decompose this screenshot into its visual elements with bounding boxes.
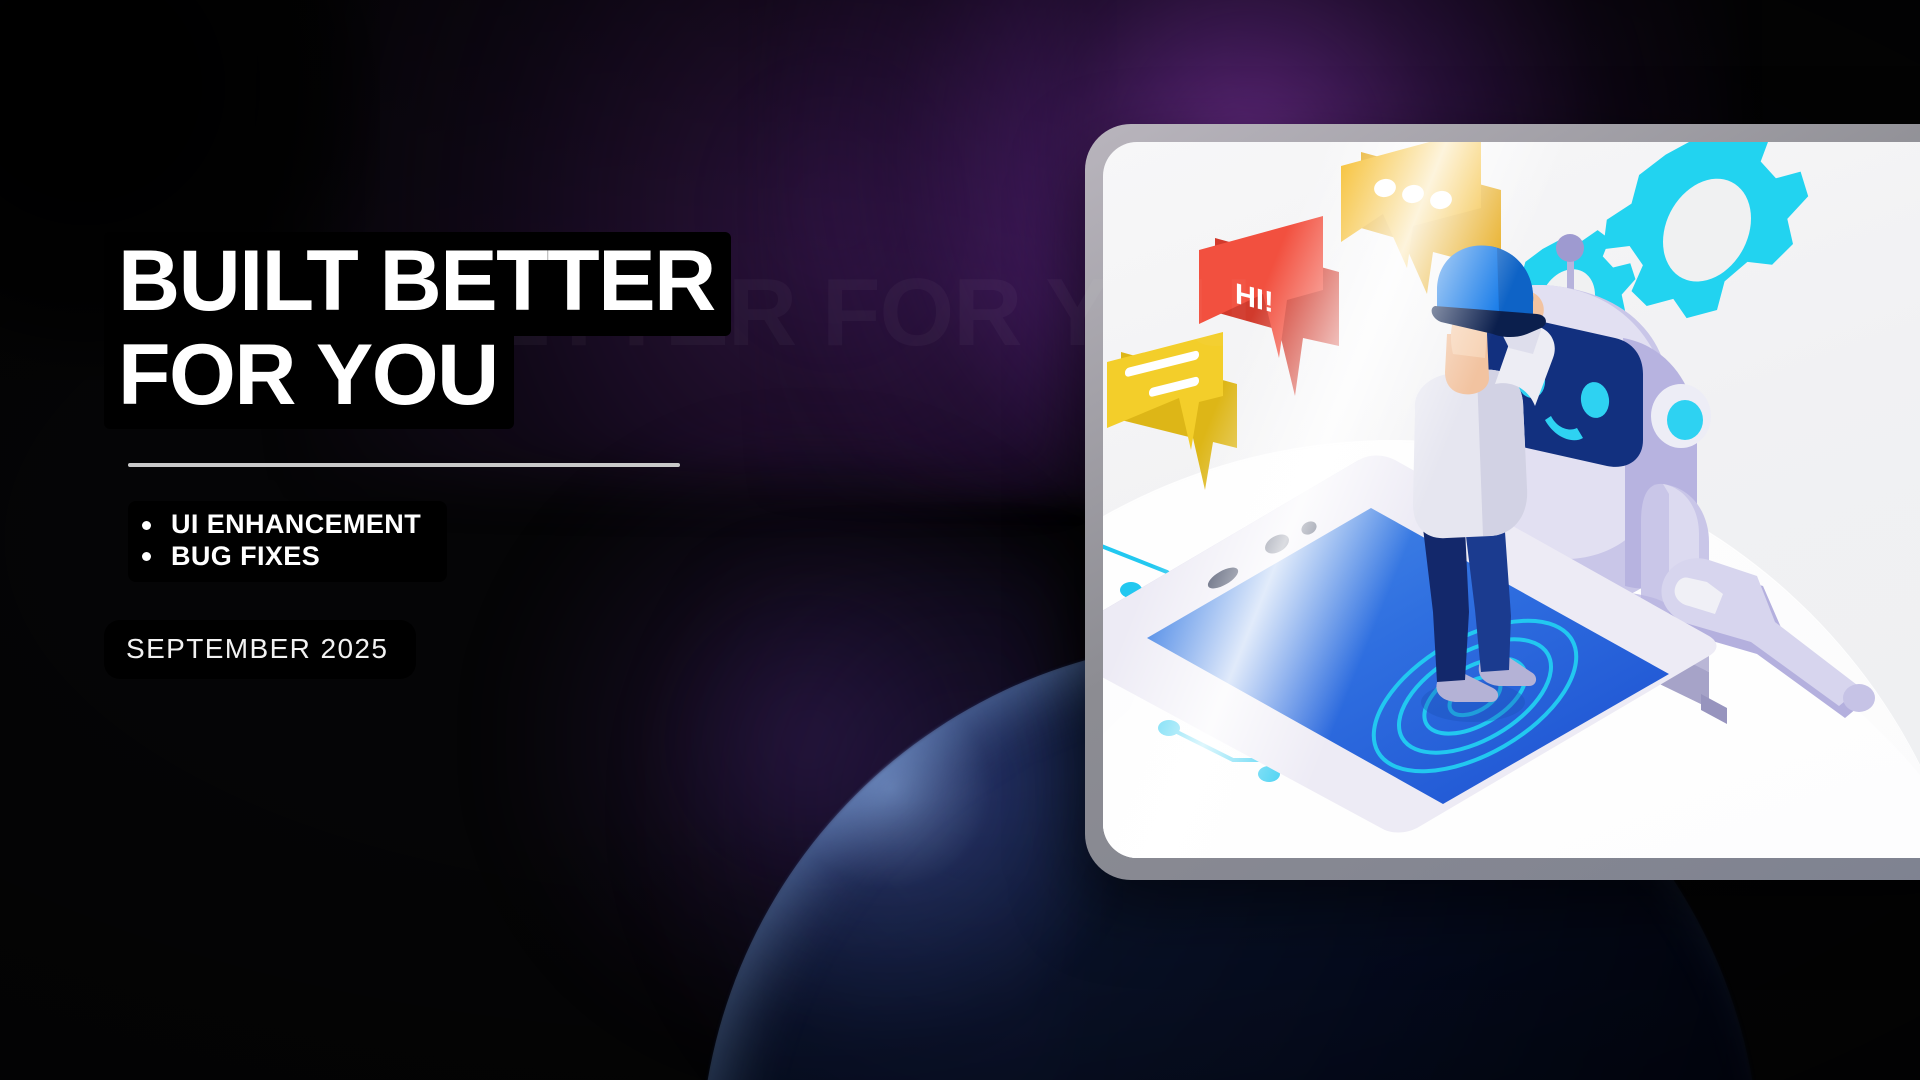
gear-large-icon <box>1603 142 1808 341</box>
page-title-line-1: BUILT BETTER <box>104 232 731 336</box>
illustration-panel: HI! <box>1085 124 1920 880</box>
list-item-label: BUG FIXES <box>171 541 320 572</box>
page-title-line-2: FOR YOU <box>104 326 514 430</box>
list-item-label: UI ENHANCEMENT <box>171 509 421 540</box>
bullet-dot-icon <box>142 521 151 530</box>
banner-canvas: BUILT BETTER FOR YOU BUILT BETTER FOR YO… <box>0 0 1920 1080</box>
list-item: BUG FIXES <box>142 541 421 572</box>
text-column: BUILT BETTER FOR YOU BUILT BETTER FOR YO… <box>104 232 864 679</box>
illustration-panel-face: HI! <box>1103 142 1920 858</box>
headline-block: BUILT BETTER FOR YOU BUILT BETTER FOR YO… <box>104 232 864 423</box>
divider-rule <box>128 463 680 467</box>
release-date-badge: SEPTEMBER 2025 <box>104 620 416 679</box>
feature-list: UI ENHANCEMENT BUG FIXES <box>128 501 447 582</box>
isometric-illustration: HI! <box>1103 142 1920 858</box>
bullet-dot-icon <box>142 552 151 561</box>
list-item: UI ENHANCEMENT <box>142 509 421 540</box>
